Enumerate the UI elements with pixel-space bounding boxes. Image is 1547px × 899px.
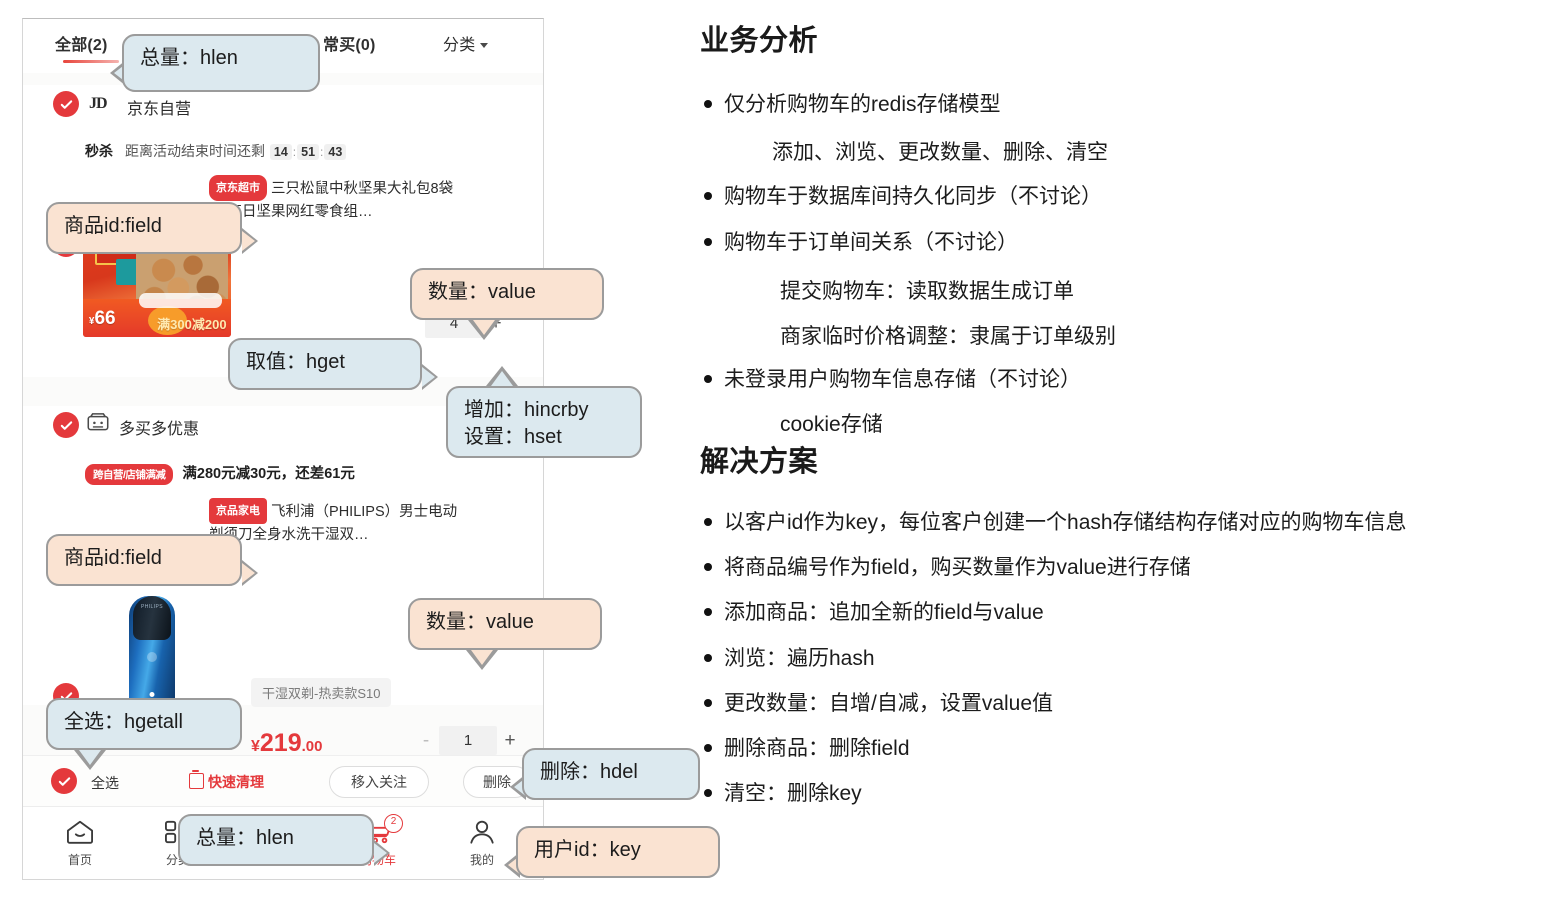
shop-name[interactable]: 多买多优惠 xyxy=(119,415,199,439)
bullet-dot-icon xyxy=(704,789,712,797)
quantity-value[interactable]: 1 xyxy=(439,726,497,755)
callout-line: 增加：hincrby xyxy=(464,397,624,424)
callout-hgetall: 全选：hgetall xyxy=(46,698,242,750)
callout-hget: 取值：hget xyxy=(228,338,422,390)
callout-product-id-field-1: 商品id:field xyxy=(46,202,242,254)
price-decimal: .00 xyxy=(302,738,323,755)
sub-item: 提交购物车：读取数据生成订单 xyxy=(780,275,1074,305)
explanation-panel: 业务分析 仅分析购物车的redis存储模型 添加、浏览、更改数量、删除、清空 购… xyxy=(690,0,1547,899)
jd-logo: JD xyxy=(89,95,107,113)
quantity-minus-button[interactable]: - xyxy=(413,730,439,752)
sub-text: 添加、浏览、更改数量、删除、清空 xyxy=(772,141,1108,164)
tab-category[interactable]: 分类 xyxy=(443,31,488,55)
bullet-text: 购物车于数据库间持久化同步（不讨论） xyxy=(724,185,1102,208)
callout-product-id-field-2: 商品id:field xyxy=(46,534,242,586)
shop-checkbox[interactable] xyxy=(53,91,79,117)
price-symbol: ¥ xyxy=(251,738,260,755)
select-all-checkbox[interactable] xyxy=(51,768,77,794)
callout-line: 总量：hlen xyxy=(196,825,356,852)
bullet-dot-icon xyxy=(704,100,712,108)
callout-line: 取值：hget xyxy=(246,349,404,376)
flash-sale-text: 距离活动结束时间还剩 xyxy=(125,143,265,159)
quantity-stepper[interactable]: - 1 + xyxy=(413,726,523,755)
bullet-text: 将商品编号作为field，购买数量作为value进行存储 xyxy=(724,556,1191,579)
countdown-minutes: 51 xyxy=(297,144,319,160)
callout-hlen-total: 总量：hlen xyxy=(122,34,320,92)
bullet-item: 将商品编号作为field，购买数量作为value进行存储 xyxy=(704,554,1191,581)
callout-tail xyxy=(468,320,500,340)
bullet-dot-icon xyxy=(704,608,712,616)
callout-line: 商品id:field xyxy=(64,545,224,572)
quick-clean-button[interactable]: 快速清理 xyxy=(189,772,264,792)
callout-line: 数量：value xyxy=(426,609,584,636)
manjian-text: 满280元减30元，还差61元 xyxy=(182,466,354,482)
callout-line: 全选：hgetall xyxy=(64,709,224,736)
bullet-dot-icon xyxy=(704,375,712,383)
callout-tail xyxy=(374,840,390,866)
manjian-tag: 跨自营/店铺满减 xyxy=(85,464,173,485)
bullet-dot-icon xyxy=(704,238,712,246)
product-spec[interactable]: 干湿双剃-热卖款S10 xyxy=(251,678,391,707)
callout-quantity-value-2: 数量：value xyxy=(408,598,602,650)
bullet-dot-icon xyxy=(704,654,712,662)
select-all-label[interactable]: 全选 xyxy=(91,773,119,793)
callout-line: 商品id:field xyxy=(64,213,224,240)
bullet-dot-icon xyxy=(704,699,712,707)
shop-checkbox[interactable] xyxy=(53,412,79,438)
callout-quantity-value-1: 数量：value xyxy=(410,268,604,320)
nav-label-home: 首页 xyxy=(37,851,123,868)
sub-item: cookie存储 xyxy=(780,408,883,438)
shop-name[interactable]: 京东自营 xyxy=(127,95,191,119)
store-icon xyxy=(87,413,109,431)
user-icon xyxy=(439,817,525,847)
manjian-row: 跨自营/店铺满减满280元减30元，还差61元 xyxy=(85,462,355,485)
callout-tail xyxy=(486,366,518,386)
tab-frequent[interactable]: 常买(0) xyxy=(323,31,376,55)
callout-tail xyxy=(242,228,258,254)
countdown-hours: 14 xyxy=(270,144,292,160)
bullet-item: 以客户id作为key，每位客户创建一个hash存储结构存储对应的购物车信息 xyxy=(704,509,1407,536)
callout-line: 数量：value xyxy=(428,279,586,306)
bullet-dot-icon xyxy=(704,744,712,752)
flash-sale-row: 秒杀距离活动结束时间还剩 14:51:43 xyxy=(85,141,347,161)
quick-clean-label: 快速清理 xyxy=(208,774,264,790)
sub-text: 提交购物车：读取数据生成订单 xyxy=(780,280,1074,303)
callout-tail xyxy=(466,650,498,670)
product-tag: 京品家电 xyxy=(209,498,267,524)
quantity-plus-button[interactable]: + xyxy=(497,730,523,752)
bullet-item: 未登录用户购物车信息存储（不讨论） xyxy=(704,366,1081,393)
product-tag: 京东超市 xyxy=(209,175,267,201)
home-icon xyxy=(37,817,123,847)
bullet-text: 清空：删除key xyxy=(724,782,862,805)
price-integer: 219 xyxy=(260,729,302,757)
bullet-item: 删除商品：删除field xyxy=(704,735,910,762)
bullet-text: 浏览：遍历hash xyxy=(724,647,875,670)
bullet-text: 未登录用户购物车信息存储（不讨论） xyxy=(724,368,1081,391)
sub-item: 商家临时价格调整：隶属于订单级别 xyxy=(780,320,1116,350)
tab-all[interactable]: 全部(2) xyxy=(55,31,108,55)
product-title[interactable]: 京东超市 三只松鼠中秋坚果大礼包8袋装 每日坚果网红零食组… xyxy=(209,175,459,223)
callout-hincrby-hset: 增加：hincrby 设置：hset xyxy=(446,386,642,458)
callout-hlen-total-bottom: 总量：hlen xyxy=(178,814,374,866)
product-title[interactable]: 京品家电 飞利浦（PHILIPS）男士电动剃须刀全身水洗干湿双… xyxy=(209,498,459,546)
move-to-favorites-button[interactable]: 移入关注 xyxy=(329,766,429,798)
callout-user-id-key: 用户id：key xyxy=(516,826,720,878)
bullet-item: 购物车于订单间关系（不讨论） xyxy=(704,229,1018,256)
sub-text: 商家临时价格调整：隶属于订单级别 xyxy=(780,325,1116,348)
bullet-dot-icon xyxy=(704,563,712,571)
sub-item: 添加、浏览、更改数量、删除、清空 xyxy=(772,136,1108,166)
bullet-text: 购物车于订单间关系（不讨论） xyxy=(724,231,1018,254)
tab-category-label: 分类 xyxy=(443,37,475,54)
bullet-item: 更改数量：自增/自减，设置value值 xyxy=(704,690,1053,717)
bullet-item: 购物车于数据库间持久化同步（不讨论） xyxy=(704,183,1102,210)
bullet-text: 仅分析购物车的redis存储模型 xyxy=(724,93,1001,116)
bullet-item: 仅分析购物车的redis存储模型 xyxy=(704,91,1001,118)
bullet-text: 以客户id作为key，每位客户创建一个hash存储结构存储对应的购物车信息 xyxy=(724,511,1407,534)
cart-badge: 2 xyxy=(384,814,403,833)
section-title-solution: 解决方案 xyxy=(700,438,818,480)
flash-sale-label: 秒杀 xyxy=(85,143,113,159)
chevron-down-icon xyxy=(480,43,488,48)
section-title-business-analysis: 业务分析 xyxy=(700,17,818,59)
bullet-text: 更改数量：自增/自减，设置value值 xyxy=(724,692,1053,715)
bullet-item: 添加商品：追加全新的field与value xyxy=(704,599,1044,626)
bullet-dot-icon xyxy=(704,518,712,526)
bullet-dot-icon xyxy=(704,192,712,200)
bullet-text: 删除商品：删除field xyxy=(724,737,910,760)
product-price: ¥219.00 xyxy=(251,729,322,758)
bullet-item: 浏览：遍历hash xyxy=(704,645,875,672)
trash-icon xyxy=(189,773,204,789)
countdown-seconds: 43 xyxy=(324,144,346,160)
callout-line: 总量：hlen xyxy=(140,45,302,72)
callout-tail xyxy=(422,364,438,390)
callout-line: 用户id：key xyxy=(534,837,702,864)
callout-tail xyxy=(242,560,258,586)
callout-line: 设置：hset xyxy=(464,424,624,451)
callout-hdel: 删除：hdel xyxy=(522,748,700,800)
sub-text: cookie存储 xyxy=(780,413,883,436)
nav-item-home[interactable]: 首页 xyxy=(37,817,123,868)
callout-tail xyxy=(74,750,106,770)
bullet-text: 添加商品：追加全新的field与value xyxy=(724,601,1044,624)
bullet-item: 清空：删除key xyxy=(704,780,862,807)
callout-line: 删除：hdel xyxy=(540,759,682,786)
